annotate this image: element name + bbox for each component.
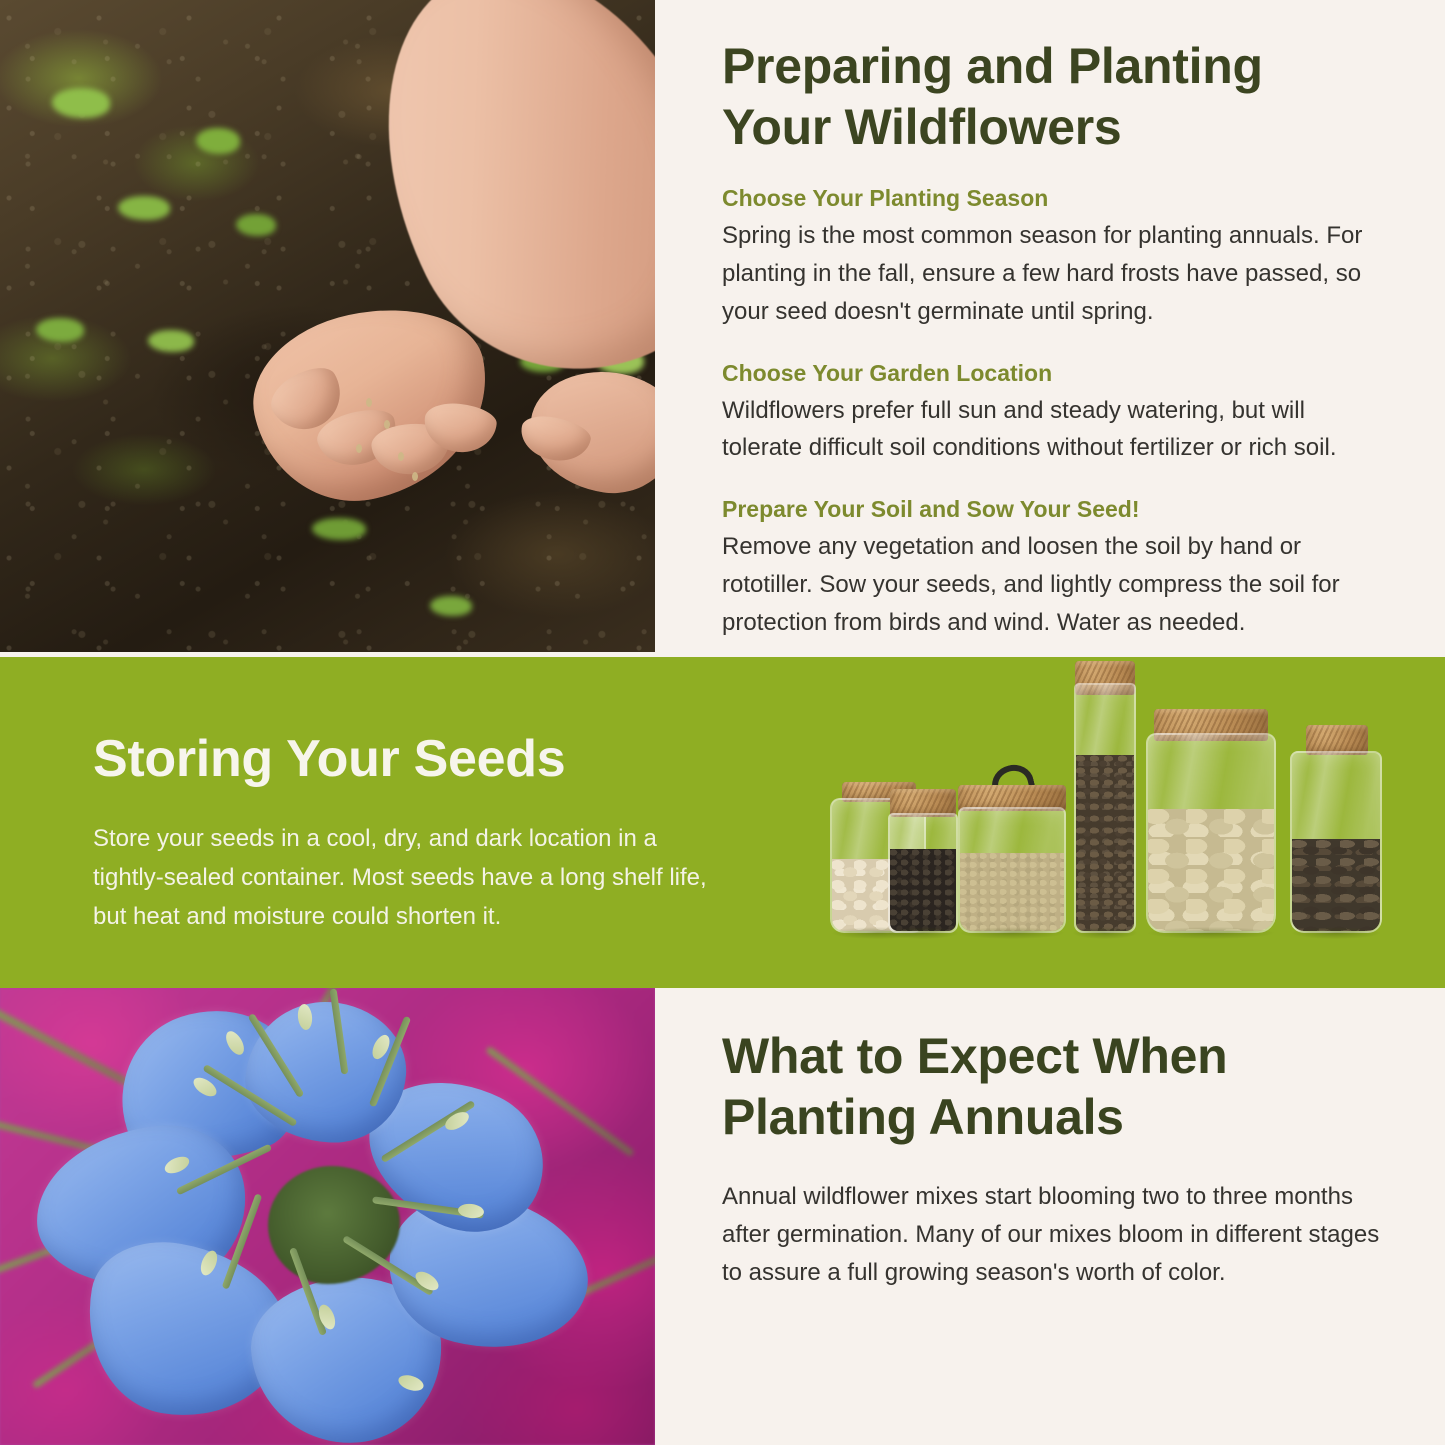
what-to-expect-text-column: What to Expect When Planting Annuals Ann… (722, 1026, 1382, 1292)
preparing-and-planting-section: Preparing and Planting Your Wildflowers … (0, 0, 1445, 657)
jar-shadow (1148, 927, 1274, 939)
sprout-icon (236, 214, 276, 236)
subheading-prepare-soil: Prepare Your Soil and Sow Your Seed! (722, 495, 1382, 525)
preparing-text-column: Preparing and Planting Your Wildflowers … (722, 36, 1382, 642)
sprout-icon (430, 596, 472, 616)
seed-jar-tan-seeds (958, 807, 1066, 933)
seed-jar-black-seeds (888, 813, 958, 933)
seed-jar-tall-cylinder (1074, 683, 1136, 933)
seed-contents (1076, 755, 1134, 931)
jar-shadow (960, 927, 1064, 939)
what-to-expect-body: Annual wildflower mixes start blooming t… (722, 1178, 1382, 1292)
seed-storage-jars-photo (830, 665, 1390, 933)
jar-shadow (888, 927, 958, 939)
sprout-icon (312, 518, 366, 540)
seed-contents (890, 849, 956, 931)
body-planting-season: Spring is the most common season for pla… (722, 217, 1382, 331)
blue-nigella-flower-photo (0, 988, 655, 1445)
what-to-expect-section: What to Expect When Planting Annuals Ann… (0, 988, 1445, 1445)
sprout-icon (52, 88, 110, 118)
infographic-page: Preparing and Planting Your Wildflowers … (0, 0, 1445, 1445)
seed-contents (960, 853, 1064, 931)
page-title: Preparing and Planting Your Wildflowers (722, 36, 1382, 158)
falling-seed (356, 444, 362, 453)
prepare-soil-block: Prepare Your Soil and Sow Your Seed! Rem… (722, 495, 1382, 642)
seed-contents (1292, 839, 1380, 931)
seed-contents (1148, 809, 1274, 931)
falling-seed (398, 452, 404, 461)
storing-seeds-body: Store your seeds in a cool, dry, and dar… (93, 820, 713, 937)
storing-seeds-title: Storing Your Seeds (93, 730, 713, 790)
jar-shadow (1073, 927, 1137, 939)
falling-seed (384, 420, 390, 429)
sprout-icon (196, 128, 240, 154)
seed-jar-sunflower-seeds (1290, 751, 1382, 933)
falling-seed (412, 472, 418, 481)
body-prepare-soil: Remove any vegetation and loosen the soi… (722, 528, 1382, 642)
subheading-garden-location: Choose Your Garden Location (722, 359, 1382, 389)
storing-your-seeds-section: Storing Your Seeds Store your seeds in a… (0, 657, 1445, 988)
falling-seed (366, 398, 372, 407)
sprout-icon (36, 318, 84, 342)
planting-season-block: Choose Your Planting Season Spring is th… (722, 184, 1382, 331)
sprout-icon (148, 330, 194, 352)
subheading-planting-season: Choose Your Planting Season (722, 184, 1382, 214)
body-garden-location: Wildflowers prefer full sun and steady w… (722, 392, 1382, 468)
jar-shadow (1292, 927, 1380, 939)
seed-jar-pumpkin-seeds (1146, 733, 1276, 933)
hand-sowing-seeds-in-soil-photo (0, 0, 655, 652)
garden-location-block: Choose Your Garden Location Wildflowers … (722, 359, 1382, 468)
what-to-expect-title: What to Expect When Planting Annuals (722, 1026, 1382, 1148)
sprout-icon (118, 196, 170, 220)
storing-text-column: Storing Your Seeds Store your seeds in a… (93, 730, 713, 936)
